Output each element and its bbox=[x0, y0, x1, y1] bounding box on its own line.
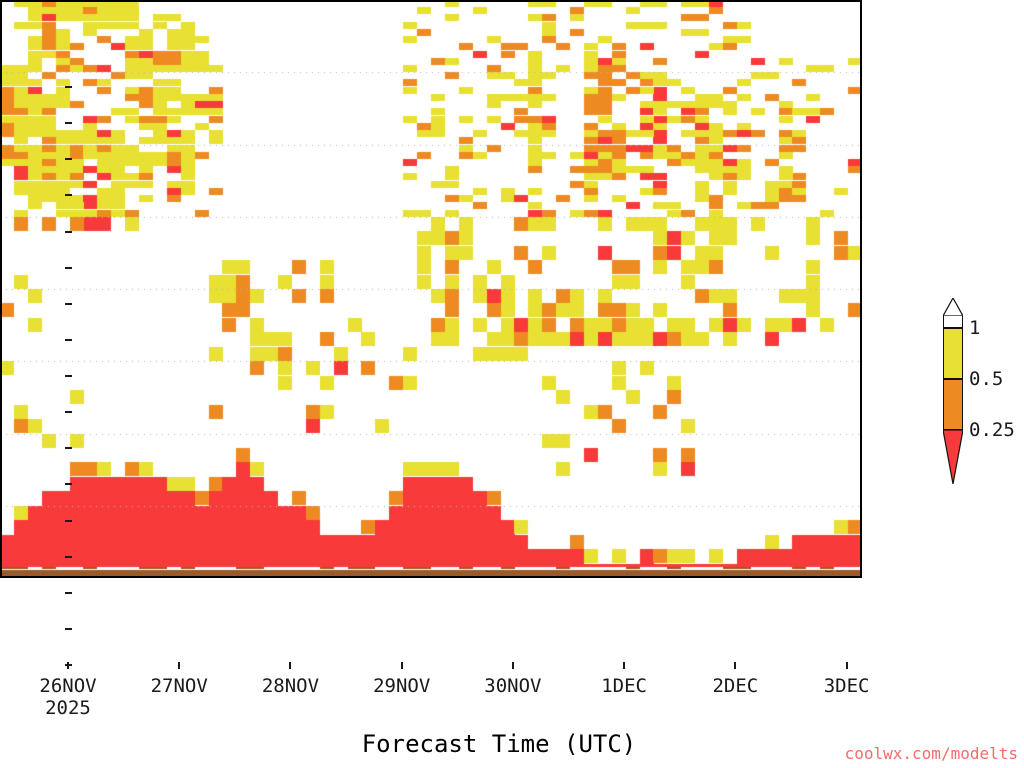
y-tick-mark bbox=[65, 231, 72, 233]
colorbar: 10.50.25 bbox=[943, 298, 965, 480]
x-tick-label: 26NOV bbox=[39, 675, 96, 697]
x-axis-year-label: 2025 bbox=[45, 697, 91, 719]
colorbar-tick-label: 0.5 bbox=[969, 368, 1003, 390]
y-tick-mark bbox=[65, 158, 72, 160]
heatmap-canvas bbox=[0, 0, 862, 578]
x-tick-label: 30NOV bbox=[484, 675, 541, 697]
colorbar-over-arrow bbox=[943, 298, 963, 316]
y-tick-mark bbox=[65, 556, 72, 558]
colorbar-band-0.5-1 bbox=[943, 328, 963, 379]
y-tick-mark bbox=[65, 194, 72, 196]
y-tick-mark bbox=[65, 339, 72, 341]
y-tick-mark bbox=[65, 86, 72, 88]
y-tick-mark bbox=[65, 520, 72, 522]
x-tick-mark bbox=[67, 662, 69, 669]
x-tick-mark bbox=[401, 662, 403, 669]
x-tick-mark bbox=[289, 662, 291, 669]
colorbar-band-0.25-0.5 bbox=[943, 379, 963, 430]
y-tick-mark bbox=[65, 483, 72, 485]
y-tick-mark bbox=[65, 267, 72, 269]
x-tick-label: 28NOV bbox=[262, 675, 319, 697]
x-tick-label: 2DEC bbox=[712, 675, 758, 697]
x-tick-label: 1DEC bbox=[601, 675, 647, 697]
y-tick-mark bbox=[65, 628, 72, 630]
x-axis-title: Forecast Time (UTC) bbox=[68, 730, 930, 758]
x-tick-label: 27NOV bbox=[151, 675, 208, 697]
y-tick-mark bbox=[65, 447, 72, 449]
y-tick-mark bbox=[65, 303, 72, 305]
y-tick-mark bbox=[65, 122, 72, 124]
colorbar-tick-label: 0.25 bbox=[969, 419, 1015, 441]
x-tick-label: 29NOV bbox=[373, 675, 430, 697]
y-tick-mark bbox=[65, 375, 72, 377]
colorbar-tick-label: 1 bbox=[969, 317, 980, 339]
colorbar-band-over-1 bbox=[943, 316, 963, 328]
x-tick-mark bbox=[846, 662, 848, 669]
x-tick-label: 3DEC bbox=[824, 675, 870, 697]
x-tick-mark bbox=[623, 662, 625, 669]
x-tick-mark bbox=[512, 662, 514, 669]
chart-root: 2025112600 GFS Forecast Richardson# KHUF… bbox=[0, 0, 1024, 768]
credit-watermark: coolwx.com/modelts bbox=[845, 744, 1018, 763]
x-tick-mark bbox=[178, 662, 180, 669]
y-tick-mark bbox=[65, 592, 72, 594]
plot-area bbox=[0, 0, 862, 578]
colorbar-under-arrow bbox=[943, 430, 963, 484]
x-tick-mark bbox=[734, 662, 736, 669]
y-tick-mark bbox=[65, 411, 72, 413]
